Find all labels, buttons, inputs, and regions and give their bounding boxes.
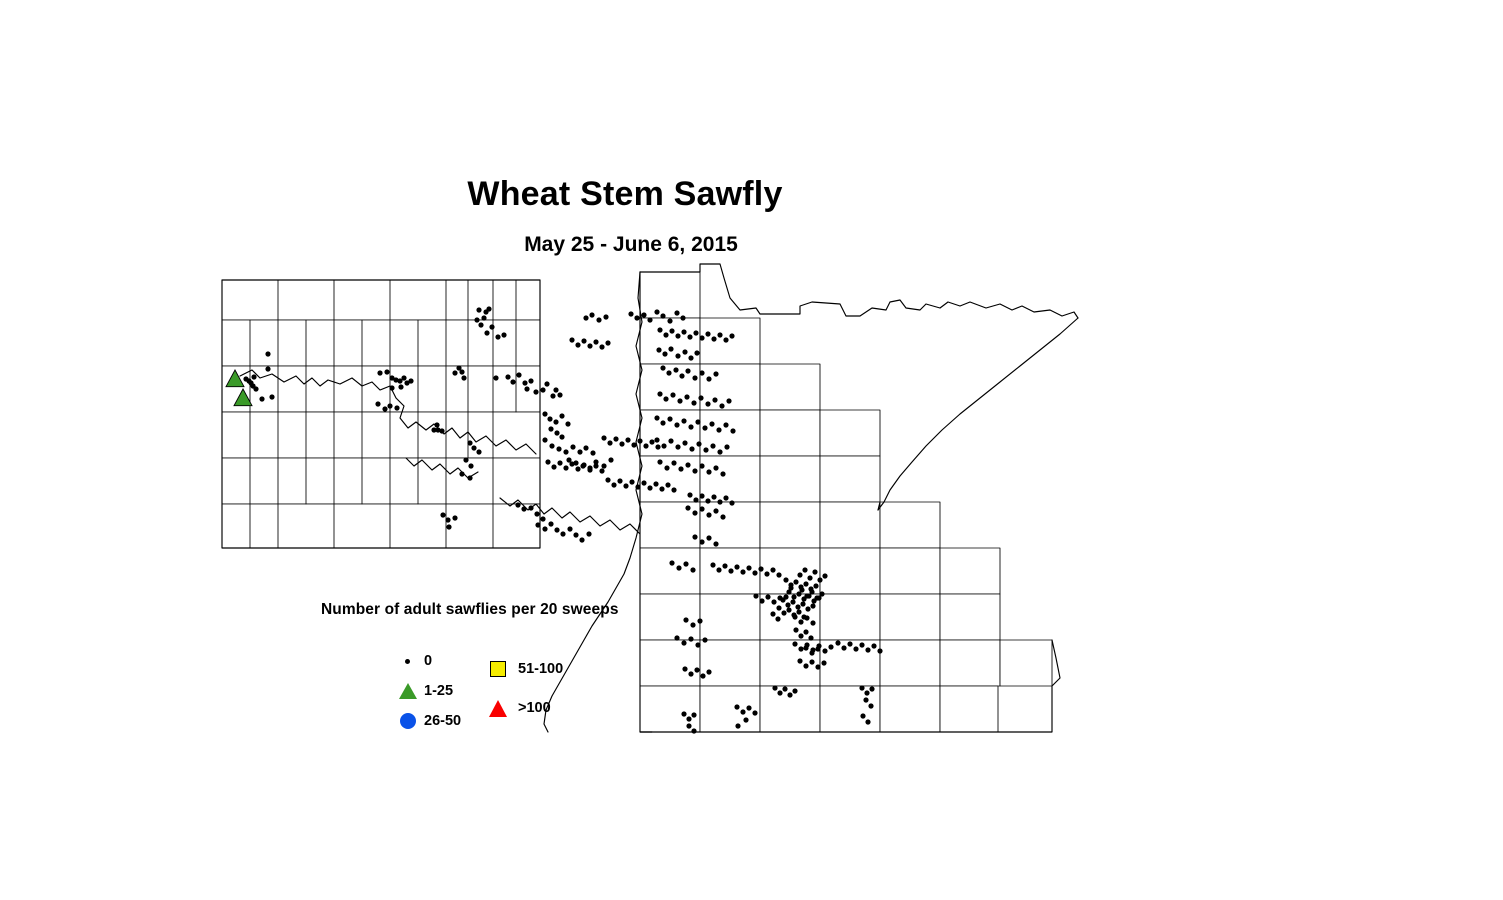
map-point-zero [792,688,797,693]
map-point-zero [681,640,686,645]
map-point-zero [603,314,608,319]
map-point-zero [681,711,686,716]
map-point-zero [746,565,751,570]
map-point-zero [699,463,704,468]
map-point-zero [557,460,562,465]
map-point-zero [654,415,659,420]
map-point-zero [577,449,582,454]
map-point-zero [675,353,680,358]
map-point-zero [775,616,780,621]
map-point-zero [709,421,714,426]
map-point-zero [556,446,561,451]
map-point-zero [722,563,727,568]
map-point-zero [655,444,660,449]
page-title: Wheat Stem Sawfly [0,174,1250,214]
map-point-zero [560,531,565,536]
map-point-zero [565,421,570,426]
map-point-zero [540,387,545,392]
map-point-zero [657,459,662,464]
map-point-zero [452,515,457,520]
map-point-zero [389,385,394,390]
map-point-zero [548,426,553,431]
map-point-zero [699,493,704,498]
sawfly-map-page: Wheat Stem Sawfly May 25 - June 6, 2015 [0,0,1503,900]
map-point-zero [474,317,479,322]
map-point-zero [803,581,808,586]
map-point-zero [797,658,802,663]
map-point-zero [719,403,724,408]
map-point-zero [554,430,559,435]
map-point-zero [659,486,664,491]
map-point-zero [625,437,630,442]
map-point-zero [706,469,711,474]
map-point-zero [501,332,506,337]
map-point-zero [710,562,715,567]
map-point-zero [729,333,734,338]
map-point-zero [467,440,472,445]
map-point-zero [793,579,798,584]
north-dakota-counties [222,280,640,548]
map-point-zero [787,692,792,697]
map-point-zero [581,462,586,467]
map-point-zero [683,561,688,566]
map-point-zero [724,444,729,449]
map-point-zero [796,609,801,614]
map-point-zero [810,620,815,625]
map-point-zero [777,595,782,600]
map-point-zero [569,337,574,342]
yellow-square-icon [486,656,512,682]
map-point-zero [716,427,721,432]
map-point-zero [864,690,869,695]
map-point-zero [705,498,710,503]
map-point-zero [685,462,690,467]
map-legend: Number of adult sawflies per 20 sweeps 0… [318,598,658,738]
map-point-zero [860,713,865,718]
map-point-zero [563,449,568,454]
map-point-zero [533,389,538,394]
map-point-zero [692,468,697,473]
map-point-zero [802,567,807,572]
map-point-zero [654,309,659,314]
map-point-zero [706,535,711,540]
map-point-zero [689,446,694,451]
map-point-zero [807,575,812,580]
red-triangle-icon [486,695,512,721]
map-point-zero [524,386,529,391]
map-point-zero [671,487,676,492]
map-point-zero [542,411,547,416]
map-point-zero [547,416,552,421]
map-point-zero [699,370,704,375]
map-point-zero [735,723,740,728]
legend-item-0-label: 0 [424,648,432,674]
map-point-zero [814,595,819,600]
map-point-zero [690,567,695,572]
map-point-zero [601,435,606,440]
map-point-zero [705,331,710,336]
map-point-zero [798,619,803,624]
map-point-zero [758,566,763,571]
legend-item-1-label: 1-25 [424,678,453,704]
map-point-zero [671,460,676,465]
map-point-zero [859,642,864,647]
map-point-zero [628,311,633,316]
map-point-zero [611,482,616,487]
map-point-zero [516,372,521,377]
map-point-zero [868,703,873,708]
map-point-zero [510,379,515,384]
map-point-zero [692,510,697,515]
map-point-zero [515,502,520,507]
map-point-zero [679,373,684,378]
map-point-zero [569,461,574,466]
map-point-zero [408,378,413,383]
map-point-zero [599,468,604,473]
map-point-zero [667,416,672,421]
map-point-zero [734,704,739,709]
map-point-zero [808,635,813,640]
map-point-zero [641,480,646,485]
map-point-zero [668,346,673,351]
map-point-zero [647,317,652,322]
map-point-zero [587,467,592,472]
map-point-zero [583,445,588,450]
map-point-zero [798,646,803,651]
map-point-zero [785,602,790,607]
map-point-zero [695,642,700,647]
map-point-zero [682,666,687,671]
map-point-zero [550,393,555,398]
map-point-zero [781,610,786,615]
map-point-zero [791,594,796,599]
map-point-zero [835,640,840,645]
page-subtitle: May 25 - June 6, 2015 [0,231,1262,258]
map-point-zero [771,599,776,604]
map-point-zero [865,647,870,652]
map-point-zero [669,328,674,333]
map-point-zero [740,569,745,574]
map-point-zero [660,365,665,370]
map-point-zero [265,366,270,371]
map-point-zero [476,307,481,312]
map-point-zero [713,541,718,546]
map-point-zero [693,330,698,335]
map-point-zero [667,318,672,323]
map-point-zero [800,601,805,606]
map-point-zero [660,313,665,318]
map-point-zero [587,343,592,348]
map-point-zero [792,641,797,646]
map-point-zero [675,444,680,449]
map-point-zero [554,527,559,532]
map-point-zero [434,422,439,427]
map-point-zero [740,709,745,714]
map-point-zero [815,664,820,669]
map-point-zero [657,327,662,332]
map-point-zero [710,443,715,448]
map-point-zero [706,669,711,674]
map-point-zero [661,443,666,448]
map-point-zero [788,585,793,590]
map-point-zero [575,342,580,347]
map-point-zero [691,400,696,405]
map-point-zero [653,481,658,486]
map-point-zero [581,338,586,343]
map-point-zero [810,603,815,608]
map-point-zero [253,386,258,391]
map-point-zero [699,539,704,544]
map-point-zero [687,334,692,339]
map-point-zero [534,511,539,516]
map-point-zero [790,599,795,604]
map-point-zero [822,573,827,578]
map-point-zero [476,449,481,454]
map-point-zero [713,371,718,376]
map-point-zero [723,422,728,427]
map-point-zero [674,422,679,427]
map-point-zero [688,636,693,641]
map-point-zero [699,335,704,340]
map-point-zero [770,611,775,616]
map-point-zero [783,594,788,599]
map-point-zero [693,497,698,502]
legend-item-3-label: 51-100 [518,656,563,682]
map-point-zero [607,440,612,445]
map-point-zero [691,728,696,733]
map-point-zero [613,436,618,441]
map-point-zero [670,392,675,397]
map-point-zero [649,439,654,444]
map-point-zero [664,465,669,470]
map-point-zero [387,403,392,408]
map-point-zero [877,648,882,653]
map-point-zero [605,477,610,482]
map-point-zero [705,401,710,406]
map-point-zero [528,378,533,383]
map-point-zero [681,418,686,423]
map-point-zero [694,350,699,355]
map-point-zero [484,330,489,335]
map-point-zero [493,375,498,380]
map-point-zero [813,583,818,588]
map-point-zero [654,437,659,442]
map-point-zero [795,604,800,609]
map-point-zero [696,441,701,446]
map-point-zero [542,437,547,442]
map-point-zero [570,444,575,449]
map-point-zero [805,606,810,611]
map-point-zero [589,312,594,317]
map-point-zero [668,438,673,443]
map-point-zero [545,459,550,464]
map-point-zero [681,329,686,334]
map-point-zero [798,633,803,638]
map-point-zero [697,618,702,623]
map-point-zero [776,572,781,577]
map-point-zero [375,401,380,406]
map-point-zero [746,705,751,710]
map-point-zero [687,492,692,497]
map-point-zero [384,369,389,374]
map-point-zero [783,577,788,582]
map-point-zero [660,420,665,425]
map-point-zero [772,685,777,690]
map-point-zero [720,514,725,519]
map-point-zero [690,622,695,627]
map-point-zero [686,723,691,728]
map-point-zero [641,312,646,317]
map-point-zero [521,506,526,511]
map-point-zero [841,645,846,650]
map-point-zero [674,635,679,640]
map-point-zero [623,483,628,488]
map-point-zero [809,659,814,664]
map-point-zero [573,532,578,537]
map-point-zero [713,465,718,470]
map-point-zero [698,395,703,400]
map-point-zero [793,627,798,632]
map-point-zero [394,405,399,410]
map-point-zero [468,463,473,468]
map-point-zero [251,374,256,379]
map-point-zero [863,697,868,702]
map-point-zero [713,508,718,513]
map-point-zero [608,457,613,462]
map-point-zero [617,478,622,483]
map-point-zero [481,315,486,320]
map-point-zero [764,571,769,576]
map-point-zero [505,374,510,379]
map-point-zero [265,351,270,356]
small-black-dot-icon [396,648,422,674]
map-point-zero [559,413,564,418]
legend-item-2-label: 26-50 [424,708,461,734]
map-point-zero [382,406,387,411]
map-point-zero [717,449,722,454]
map-point-zero [828,644,833,649]
map-point-zero [702,425,707,430]
map-point-zero [692,534,697,539]
map-point-zero [786,607,791,612]
map-point-zero [799,587,804,592]
map-point-zero [647,485,652,490]
map-point-zero [792,614,797,619]
map-point-zero [816,643,821,648]
map-point-zero [729,500,734,505]
map-point-zero [666,370,671,375]
map-point-zero [853,646,858,651]
map-point-zero [593,463,598,468]
map-point-zero [663,396,668,401]
map-point-zero [637,438,642,443]
map-point-zero [677,398,682,403]
map-point-zero [809,589,814,594]
map-point-zero [629,479,634,484]
map-point-zero [723,337,728,342]
map-point-zero [522,380,527,385]
map-point-zero [542,526,547,531]
map-point-zero [770,567,775,572]
map-point-zero [461,375,466,380]
map-point-zero [678,466,683,471]
map-point-zero [553,387,558,392]
map-point-zero [726,398,731,403]
map-point-zero [712,397,717,402]
map-point-zero [804,642,809,647]
map-point-zero [579,537,584,542]
map-point-zero [717,332,722,337]
map-point-zero [662,351,667,356]
map-point-zero [596,317,601,322]
map-point-zero [743,717,748,722]
map-point-zero [803,663,808,668]
map-point-zero [259,396,264,401]
map-point-zero [459,471,464,476]
map-point-zero [682,349,687,354]
map-point-zero [869,686,874,691]
map-point-zero [804,593,809,598]
map-point-zero [692,375,697,380]
map-point-zero [471,445,476,450]
map-point-zero [665,482,670,487]
map-point-zero [528,505,533,510]
map-point-zero [752,710,757,715]
map-point-zero [821,660,826,665]
map-point-zero [583,315,588,320]
map-point-zero [544,381,549,386]
map-point-zero [847,641,852,646]
map-point-zero [812,569,817,574]
map-point-zero [683,617,688,622]
map-point-zero [676,565,681,570]
map-point-zero [734,564,739,569]
map-point-zero [486,306,491,311]
map-point-zero [684,394,689,399]
map-point-zero [459,369,464,374]
map-point-zero [605,340,610,345]
map-point-zero [694,667,699,672]
map-point-zero [706,512,711,517]
map-point-zero [716,567,721,572]
map-point-zero [817,577,822,582]
map-point-zero [377,370,382,375]
map-point-zero [865,719,870,724]
map-point-zero [452,370,457,375]
map-point-zero [720,471,725,476]
map-point-zero [753,593,758,598]
map-point-zero [478,322,483,327]
map-point-zero [559,434,564,439]
map-point-zero [782,686,787,691]
map-point-zero [797,572,802,577]
map-point-zero [669,560,674,565]
map-point-zero [549,443,554,448]
map-point-zero [619,441,624,446]
map-point-zero [759,598,764,603]
map-point-zero [688,671,693,676]
map-point-zero [439,428,444,433]
map-point-zero [686,716,691,721]
map-point-zero [663,332,668,337]
map-point-zero [643,443,648,448]
map-point-zero [634,315,639,320]
map-point-zero [656,347,661,352]
map-point-zero [776,605,781,610]
map-point-zero [680,315,685,320]
map-point-zero [553,419,558,424]
map-point-zero [711,494,716,499]
